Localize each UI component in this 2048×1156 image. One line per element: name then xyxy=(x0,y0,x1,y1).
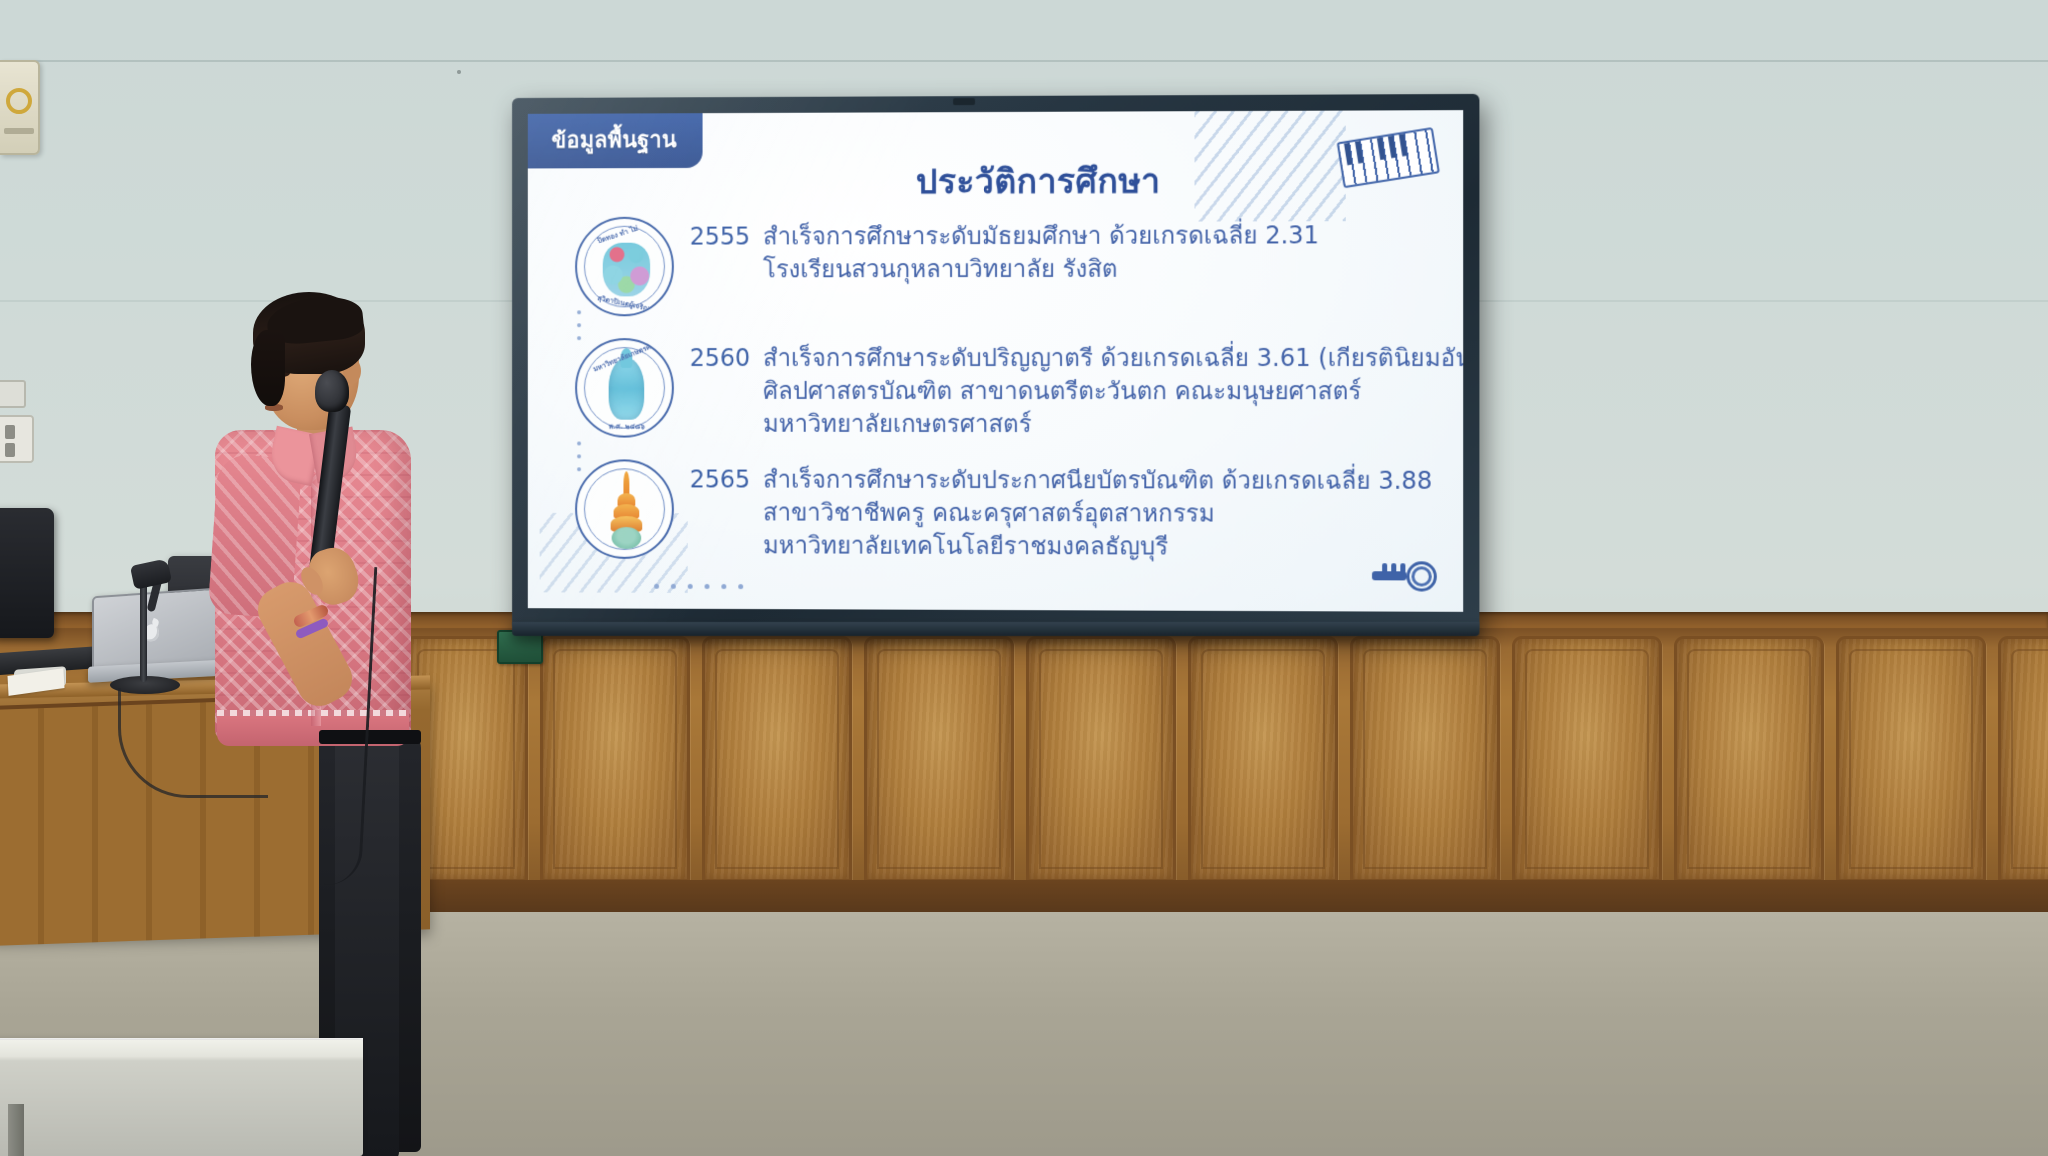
entry-text: 2560 สำเร็จการศึกษาระดับปริญญาตรี ด้วยเก… xyxy=(690,338,1463,442)
presenter xyxy=(215,280,415,880)
display-bottom-tray xyxy=(512,622,1479,636)
entry-line: สำเร็จการศึกษาระดับประกาศนียบัตรบัณฑิต ด… xyxy=(763,464,1435,498)
education-history-list: ปิดทอง ทำ ไม่ สุวิตาปิเนตผู้เจริญ 2555 ส… xyxy=(573,215,1435,602)
crest-base xyxy=(612,527,642,549)
suankularb-wittayalai-rangsit-seal: ปิดทอง ทำ ไม่ สุวิตาปิเนตผู้เจริญ xyxy=(575,217,674,317)
outlet-socket xyxy=(5,443,15,457)
education-entry: ปิดทอง ทำ ไม่ สุวิตาปิเนตผู้เจริญ 2555 ส… xyxy=(573,215,1435,320)
education-entry: มหาวิทยาลัยเกษตรศาสตร์ พ.ศ. ๒๔๘๖ 2560 สำ… xyxy=(573,338,1435,443)
entry-line: สำเร็จการศึกษาระดับมัธยมศึกษา ด้วยเกรดเฉ… xyxy=(763,219,1435,254)
desk-lamp-stem xyxy=(140,576,147,682)
display-screen[interactable]: ข้อมูลพื้นฐาน xyxy=(528,110,1463,612)
wood-panel xyxy=(1674,636,1824,882)
trumpet-valve xyxy=(1382,563,1387,573)
wood-panel xyxy=(702,636,852,882)
entry-lines: สำเร็จการศึกษาระดับมัธยมศึกษา ด้วยเกรดเฉ… xyxy=(763,219,1435,287)
entry-line: สาขาวิชาชีพครู คณะครุศาสตร์อุตสาหกรรม xyxy=(763,497,1435,532)
classroom-scene: ข้อมูลพื้นฐาน xyxy=(0,0,2048,1156)
entry-lines: สำเร็จการศึกษาระดับประกาศนียบัตรบัณฑิต ด… xyxy=(763,464,1435,565)
presentation-slide: ข้อมูลพื้นฐาน xyxy=(528,110,1463,612)
fixture-ring-icon xyxy=(6,88,32,114)
wall-switch-plate[interactable] xyxy=(0,380,26,408)
trumpet-icon xyxy=(1370,557,1437,597)
entry-line: สำเร็จการศึกษาระดับปริญญาตรี ด้วยเกรดเฉล… xyxy=(763,342,1463,375)
presenter-hair-side xyxy=(251,330,285,406)
seal-wrapper: ปิดทอง ทำ ไม่ สุวิตาปิเนตผู้เจริญ xyxy=(573,217,676,321)
wood-panel xyxy=(1998,636,2048,882)
wood-panel xyxy=(1512,636,1662,882)
seal-crest xyxy=(610,471,644,549)
education-entry: 2565 สำเร็จการศึกษาระดับประกาศนียบัตรบัณ… xyxy=(573,459,1435,565)
rajamangala-thanyaburi-seal xyxy=(575,459,674,559)
wood-panel xyxy=(864,636,1014,882)
entry-line: โรงเรียนสวนกุหลาบวิทยาลัย รังสิต xyxy=(763,252,1435,286)
entry-text: 2555 สำเร็จการศึกษาระดับมัธยมศึกษา ด้วยเ… xyxy=(690,215,1435,287)
slide-section-tab: ข้อมูลพื้นฐาน xyxy=(528,113,703,168)
entry-text: 2565 สำเร็จการศึกษาระดับประกาศนียบัตรบัณ… xyxy=(690,460,1435,565)
wall-fixture xyxy=(0,60,40,155)
interactive-display[interactable]: ข้อมูลพื้นฐาน xyxy=(512,94,1479,634)
entry-line: ศิลปศาสตรบัณฑิต สาขาดนตรีตะวันตก คณะมนุษ… xyxy=(763,375,1463,409)
entry-line: มหาวิทยาลัยเกษตรศาสตร์ xyxy=(763,408,1463,442)
seal-legend: มหาวิทยาลัยเกษตรศาสตร์ พ.ศ. ๒๔๘๖ xyxy=(577,340,672,436)
trumpet-valve xyxy=(1400,563,1405,573)
entry-line: มหาวิทยาลัยเทคโนโลยีราชมงคลธัญบุรี xyxy=(763,530,1435,565)
seal-wrapper xyxy=(573,459,676,563)
entry-lines: สำเร็จการศึกษาระดับปริญญาตรี ด้วยเกรดเฉล… xyxy=(763,342,1463,442)
seal-wrapper: มหาวิทยาลัยเกษตรศาสตร์ พ.ศ. ๒๔๘๖ xyxy=(573,338,676,441)
entry-year: 2565 xyxy=(690,464,763,563)
fixture-bar xyxy=(4,128,34,134)
outlet-socket xyxy=(5,425,15,439)
seal-legend: ปิดทอง ทำ ไม่ สุวิตาปิเนตผู้เจริญ xyxy=(577,219,672,315)
microphone-head[interactable] xyxy=(315,370,349,412)
wall-seam-upper xyxy=(0,60,2048,62)
wood-panel xyxy=(1188,636,1338,882)
wood-panel xyxy=(1350,636,1500,882)
trumpet-valve xyxy=(1391,563,1396,573)
wood-panel xyxy=(540,636,690,882)
wood-panel xyxy=(1026,636,1176,882)
monitor xyxy=(0,508,54,638)
wall-speck xyxy=(457,70,461,74)
front-table xyxy=(0,1040,363,1156)
wood-panel xyxy=(1836,636,1986,882)
trumpet-bell-inner xyxy=(1411,566,1431,586)
entry-year: 2555 xyxy=(690,221,763,287)
slide-title-text: ประวัติการศึกษา xyxy=(916,153,1161,208)
wall-outlet[interactable] xyxy=(0,415,34,463)
front-table-leg xyxy=(8,1104,24,1156)
kasetsart-university-seal: มหาวิทยาลัยเกษตรศาสตร์ พ.ศ. ๒๔๘๖ xyxy=(575,338,674,437)
entry-year: 2560 xyxy=(690,342,763,441)
